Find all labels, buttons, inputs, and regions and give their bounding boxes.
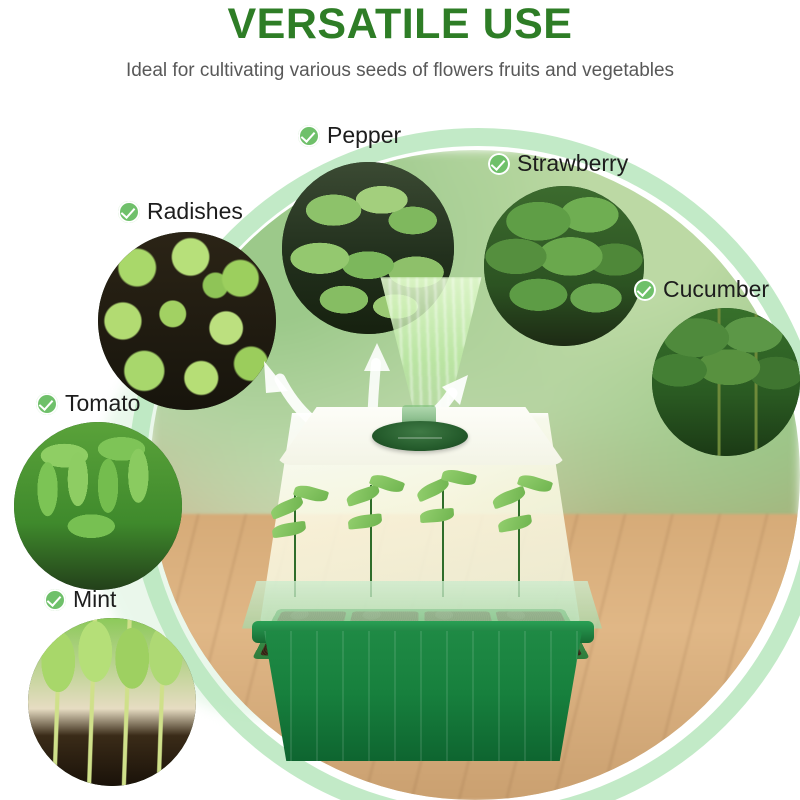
cucumber-seedlings-image <box>652 308 800 456</box>
check-circle-icon <box>44 589 66 611</box>
callout-photo-tomato <box>14 422 182 590</box>
radish-seedlings-image <box>98 232 276 410</box>
callout-label-text: Radishes <box>147 198 243 225</box>
callout-label-pepper: Pepper <box>298 122 401 149</box>
callout-label-cucumber: Cucumber <box>634 276 769 303</box>
seed-tray-product <box>236 395 608 785</box>
tomato-seedlings-image <box>14 422 182 590</box>
callout-label-text: Mint <box>73 586 116 613</box>
callout-label-text: Cucumber <box>663 276 769 303</box>
callout-photo-cucumber <box>652 308 800 456</box>
seedlings-inside-dome <box>266 447 576 597</box>
callout-label-strawberry: Strawberry <box>488 150 628 177</box>
page-subtitle: Ideal for cultivating various seeds of f… <box>0 60 800 82</box>
tray-base <box>264 631 582 761</box>
strawberry-seedlings-image <box>484 186 644 346</box>
check-circle-icon <box>488 153 510 175</box>
callout-label-text: Tomato <box>65 390 140 417</box>
callout-label-mint: Mint <box>44 586 116 613</box>
callout-label-tomato: Tomato <box>36 390 140 417</box>
page-title: VERSATILE USE <box>0 0 800 50</box>
check-circle-icon <box>36 393 58 415</box>
callout-photo-strawberry <box>484 186 644 346</box>
callout-label-text: Pepper <box>327 122 401 149</box>
check-circle-icon <box>298 125 320 147</box>
tray-base-ribs <box>264 631 582 761</box>
callout-photo-mint <box>28 618 196 786</box>
callout-label-text: Strawberry <box>517 150 628 177</box>
adjustable-vent-icon[interactable] <box>372 421 468 451</box>
callout-label-radishes: Radishes <box>118 198 243 225</box>
infographic-canvas: VERSATILE USE Ideal for cultivating vari… <box>0 0 800 800</box>
mint-sprouts-image <box>28 618 196 786</box>
check-circle-icon <box>118 201 140 223</box>
callout-photo-radishes <box>98 232 276 410</box>
check-circle-icon <box>634 279 656 301</box>
